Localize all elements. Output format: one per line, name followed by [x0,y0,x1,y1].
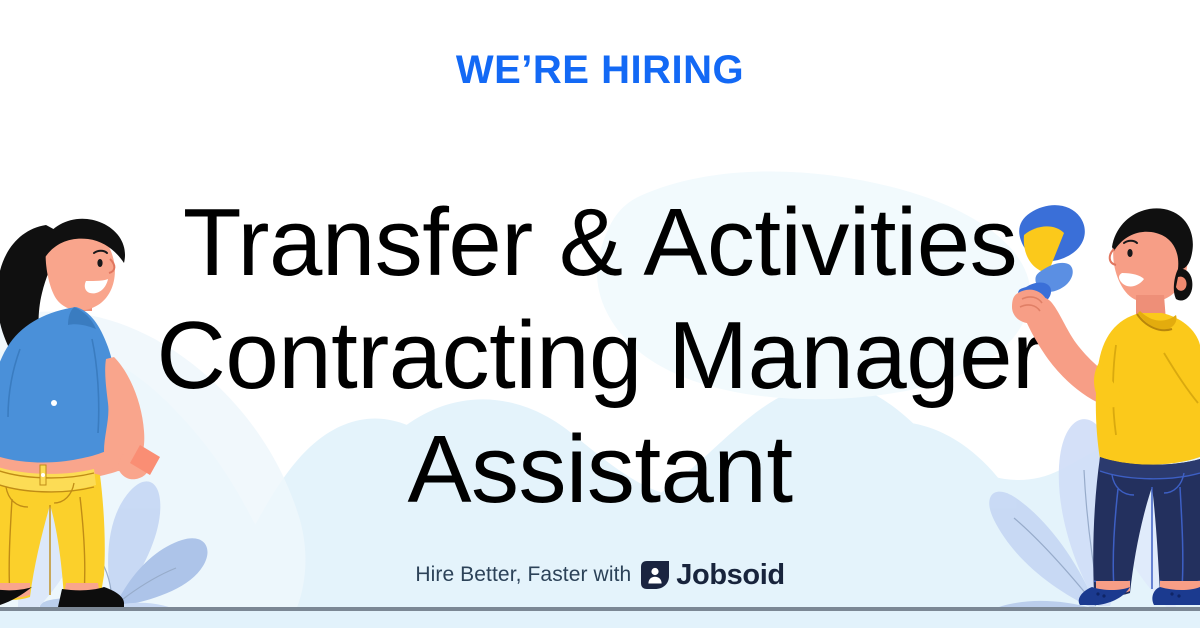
jobsoid-person-badge-icon [640,560,670,590]
tagline-text: Hire Better, Faster with [415,563,631,587]
kicker-we-are-hiring: WE’RE HIRING [0,48,1200,93]
jobsoid-brand: Jobsoid [640,560,784,590]
woman-walking-illustration [0,207,163,607]
brand-name: Jobsoid [676,561,784,590]
man-with-megaphone-illustration [1000,195,1200,607]
job-poster: WE’RE HIRING Transfer & Activities Contr… [0,0,1200,628]
bottom-band [0,611,1200,628]
